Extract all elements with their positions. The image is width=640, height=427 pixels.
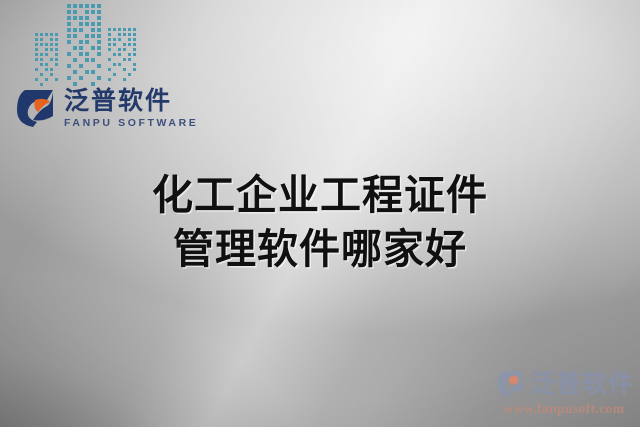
page-title: 化工企业工程证件 管理软件哪家好 [0,168,640,276]
brand-name-cn: 泛普软件 [64,88,198,113]
fanpu-logo-mark-icon [13,86,57,130]
watermark-url: www.fanpusoft.com [504,401,625,417]
watermark-row: 泛普软件 [494,367,634,399]
banner-canvas: 泛普软件 FANPU SOFTWARE 化工企业工程证件 管理软件哪家好 泛普软… [0,0,640,427]
brand-name-en: FANPU SOFTWARE [64,118,198,129]
watermark-name-cn: 泛普软件 [530,371,634,396]
fanpu-watermark-mark-icon [494,367,526,399]
watermark: 泛普软件 www.fanpusoft.com [494,367,634,417]
page-title-line-1: 化工企业工程证件 [0,168,640,222]
brand-logo: 泛普软件 FANPU SOFTWARE [13,86,198,130]
page-title-line-2: 管理软件哪家好 [0,222,640,276]
pixel-buildings-icon [34,0,154,88]
